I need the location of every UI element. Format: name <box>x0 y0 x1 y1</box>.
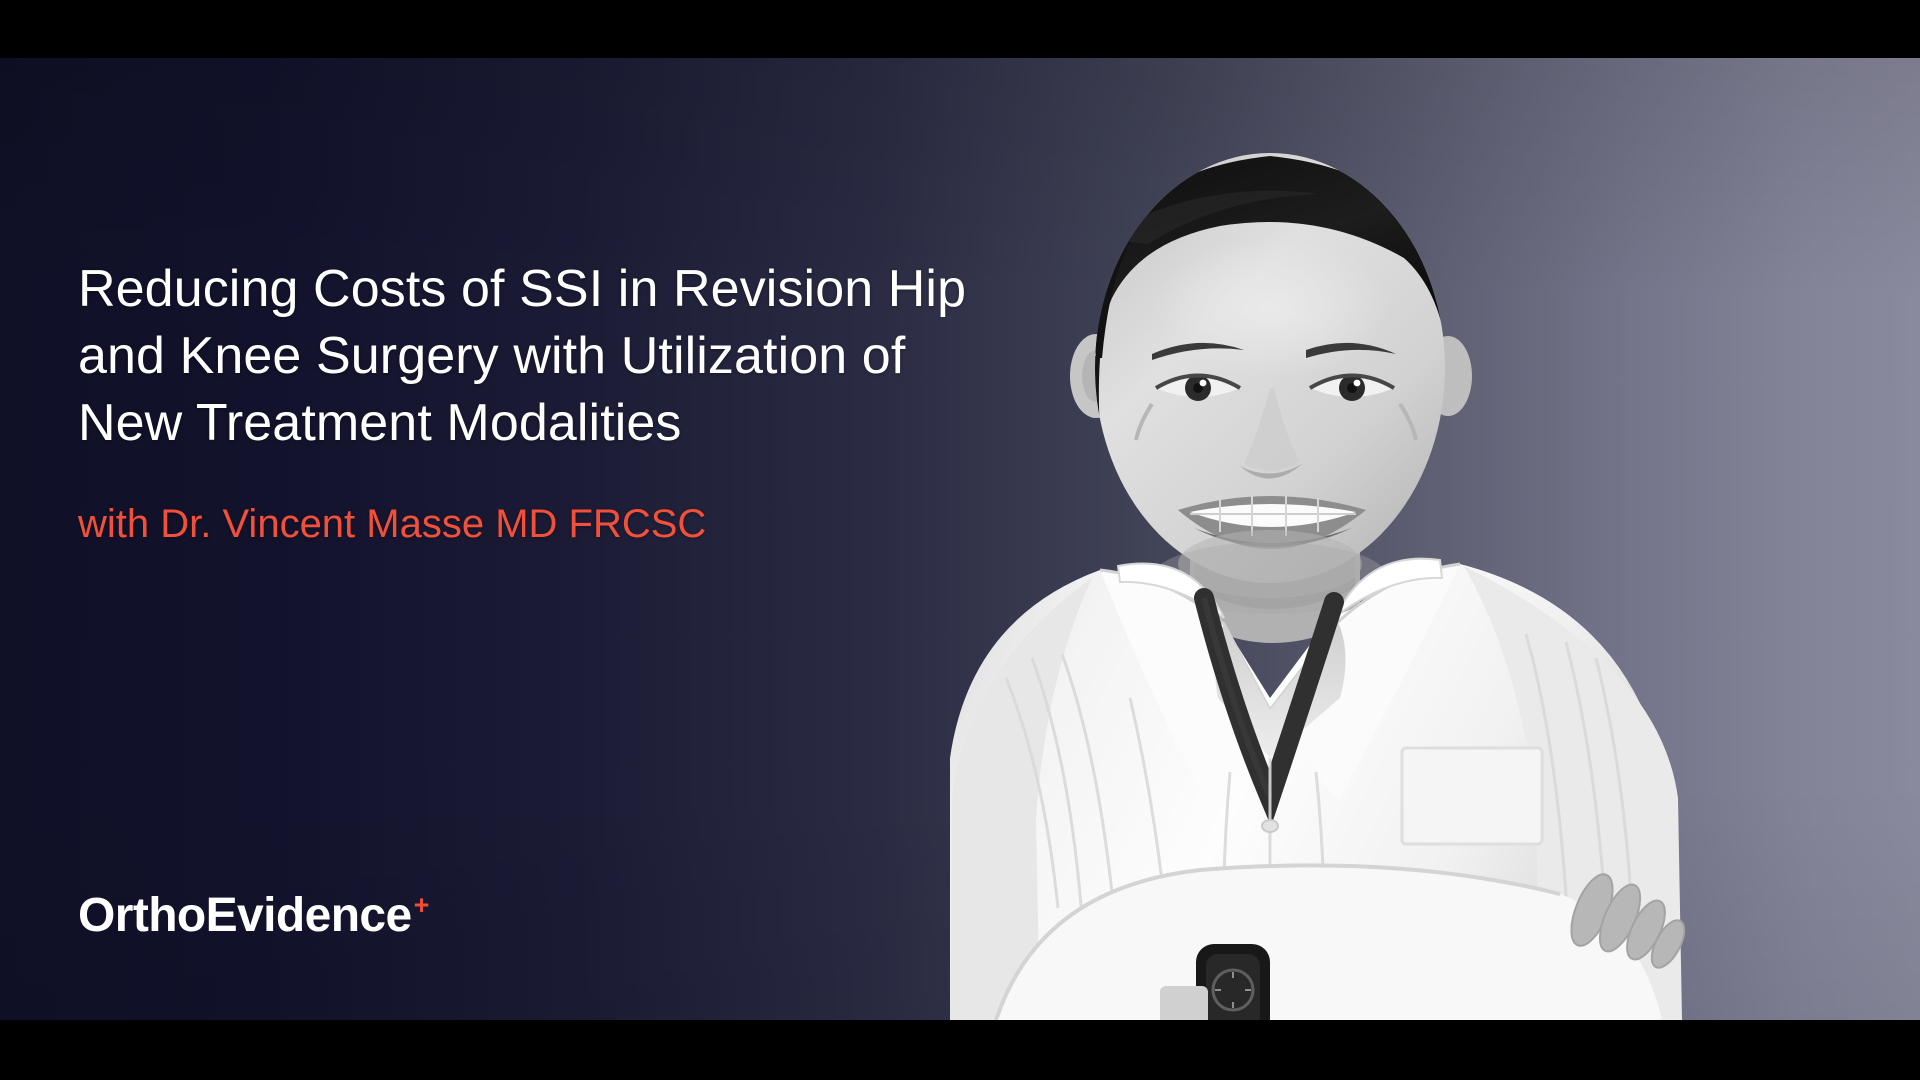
title-line-2: and Knee Surgery with Utilization of <box>78 323 958 390</box>
title-line-3: New Treatment Modalities <box>78 390 958 457</box>
logo-plus-superscript: + <box>414 892 430 919</box>
letterbox-bar-bottom <box>0 1020 1920 1080</box>
presenter-subtitle: with Dr. Vincent Masse MD FRCSC <box>78 500 958 548</box>
logo-wordmark: OrthoEvidence <box>78 890 412 942</box>
slide-stage: Reducing Costs of SSI in Revision Hip an… <box>0 58 1920 1020</box>
title-line-1: Reducing Costs of SSI in Revision Hip <box>78 256 958 323</box>
orthoevidence-logo: OrthoEvidence + <box>78 890 429 942</box>
video-slide: Reducing Costs of SSI in Revision Hip an… <box>0 0 1920 1080</box>
page-title: Reducing Costs of SSI in Revision Hip an… <box>78 256 958 457</box>
presenter-portrait-photo <box>800 58 1920 1020</box>
slide-text-block: Reducing Costs of SSI in Revision Hip an… <box>78 256 958 548</box>
letterbox-bar-top <box>0 0 1920 58</box>
